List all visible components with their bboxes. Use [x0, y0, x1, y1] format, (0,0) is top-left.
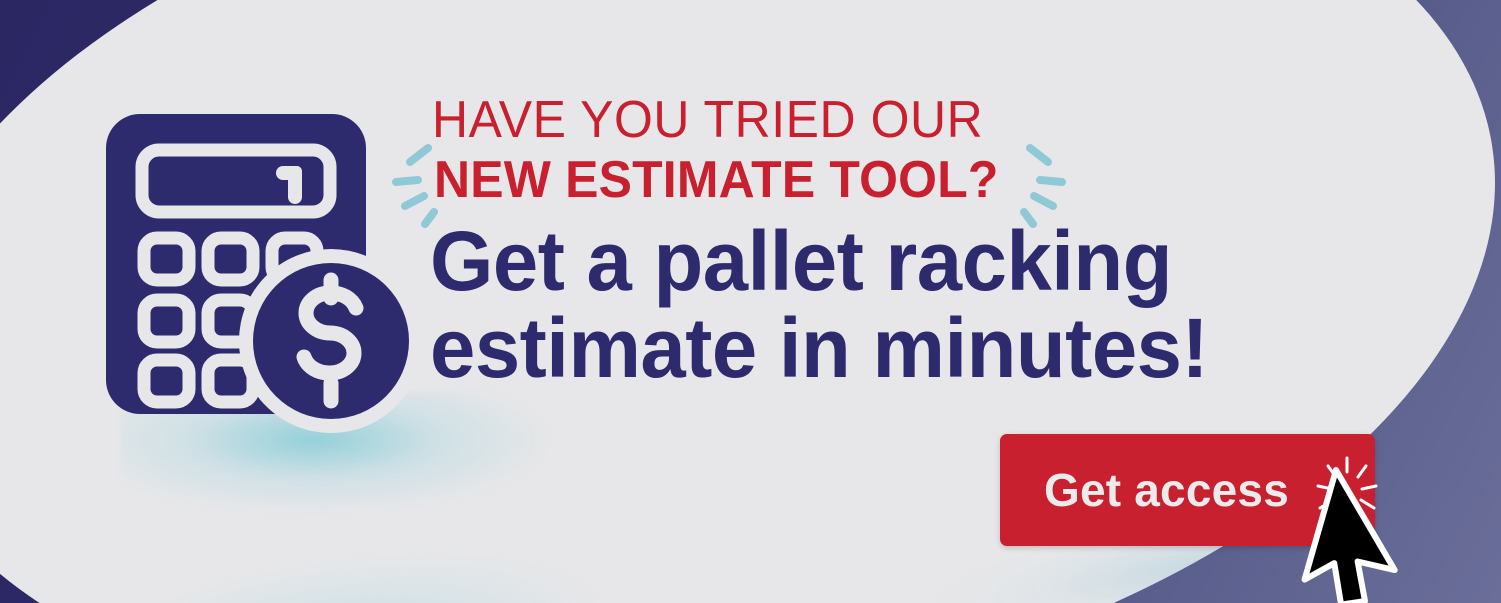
get-access-button[interactable]: Get access	[1000, 434, 1375, 546]
eyebrow-line-1: HAVE YOU TRIED OUR	[432, 92, 1296, 148]
get-access-label: Get access	[958, 434, 1375, 546]
banner-copy: HAVE YOU TRIED OUR NEW ESTIMATE TOOL? Ge…	[432, 92, 1332, 392]
page-title: Get a pallet racking estimate in minutes…	[430, 218, 1305, 392]
calculator-dollar-icon	[100, 108, 410, 433]
eyebrow-line-2: NEW ESTIMATE TOOL?	[434, 152, 1296, 208]
promo-banner: HAVE YOU TRIED OUR NEW ESTIMATE TOOL? Ge…	[0, 0, 1501, 603]
headline-line-2: estimate in minutes!	[430, 305, 1305, 392]
headline-line-1: Get a pallet racking	[430, 218, 1305, 305]
